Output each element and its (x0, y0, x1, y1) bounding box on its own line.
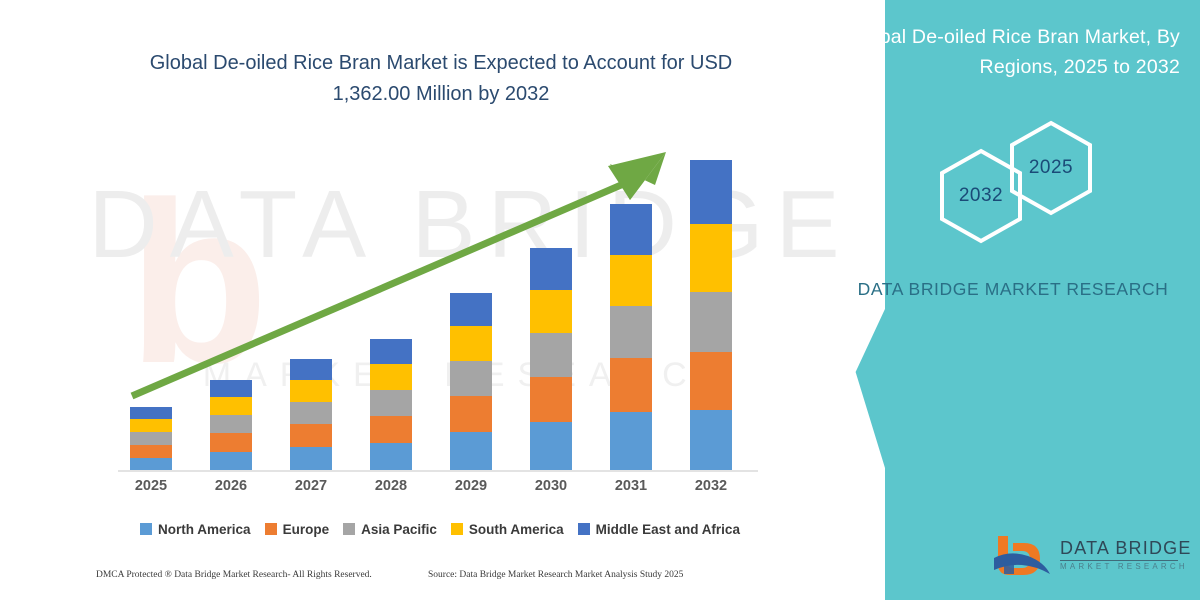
legend-swatch-icon (265, 523, 277, 535)
bar-segment-north-america-2028[interactable] (370, 443, 412, 472)
legend-label: South America (469, 522, 564, 537)
legend-item-north-america[interactable]: North America (140, 522, 251, 537)
bar-segment-asia-pacific-2030[interactable] (530, 333, 572, 377)
bar-segment-europe-2029[interactable] (450, 396, 492, 432)
bar-segment-middle-east-and-africa-2030[interactable] (530, 248, 572, 290)
bar-2026[interactable] (210, 380, 252, 472)
legend-swatch-icon (451, 523, 463, 535)
dbmr-logo-mark-icon (992, 534, 1054, 580)
infographic-canvas: b DATA BRIDGE MARKET RESEARCH Global De-… (0, 0, 1200, 600)
bar-2031[interactable] (610, 204, 652, 472)
legend-swatch-icon (140, 523, 152, 535)
legend-item-middle-east-and-africa[interactable]: Middle East and Africa (578, 522, 740, 537)
bar-segment-asia-pacific-2026[interactable] (210, 415, 252, 433)
bar-2030[interactable] (530, 248, 572, 472)
bar-segment-middle-east-and-africa-2032[interactable] (690, 160, 732, 224)
panel-brand-text: DATA BRIDGE MARKET RESEARCH (848, 275, 1178, 303)
bar-segment-south-america-2030[interactable] (530, 290, 572, 333)
footer-copyright: DMCA Protected ® Data Bridge Market Rese… (96, 570, 372, 580)
bar-segment-europe-2027[interactable] (290, 424, 332, 447)
bar-segment-europe-2030[interactable] (530, 377, 572, 422)
legend-label: North America (158, 522, 251, 537)
bar-segment-asia-pacific-2029[interactable] (450, 361, 492, 396)
bar-segment-asia-pacific-2028[interactable] (370, 390, 412, 416)
bar-segment-middle-east-and-africa-2031[interactable] (610, 204, 652, 255)
bar-segment-asia-pacific-2025[interactable] (130, 432, 172, 445)
dbmr-logo: DATA BRIDGE MARKET RESEARCH (992, 532, 1182, 582)
bar-segment-south-america-2029[interactable] (450, 326, 492, 361)
panel-title: Global De-oiled Rice Bran Market, By Reg… (825, 22, 1180, 82)
x-axis-label-2030: 2030 (516, 478, 586, 494)
bar-segment-europe-2028[interactable] (370, 416, 412, 443)
bar-segment-middle-east-and-africa-2028[interactable] (370, 339, 412, 364)
legend-swatch-icon (343, 523, 355, 535)
legend-swatch-icon (578, 523, 590, 535)
bar-segment-south-america-2031[interactable] (610, 255, 652, 306)
x-axis-label-2027: 2027 (276, 478, 346, 494)
dbmr-logo-subtitle: MARKET RESEARCH (1060, 562, 1188, 571)
bar-segment-north-america-2032[interactable] (690, 410, 732, 472)
bar-segment-south-america-2028[interactable] (370, 364, 412, 390)
x-axis-labels: 20252026202720282029203020312032 (110, 478, 770, 502)
stacked-bar-chart (110, 120, 770, 472)
bar-segment-south-america-2032[interactable] (690, 224, 732, 292)
bar-segment-north-america-2030[interactable] (530, 422, 572, 472)
bar-segment-europe-2032[interactable] (690, 352, 732, 410)
bar-segment-south-america-2025[interactable] (130, 419, 172, 432)
x-axis-label-2032: 2032 (676, 478, 746, 494)
bar-segment-south-america-2026[interactable] (210, 397, 252, 415)
legend-item-south-america[interactable]: South America (451, 522, 564, 537)
bar-2027[interactable] (290, 359, 332, 472)
bar-segment-europe-2025[interactable] (130, 445, 172, 458)
legend-label: Middle East and Africa (596, 522, 740, 537)
bar-segment-north-america-2031[interactable] (610, 412, 652, 472)
hexagon-label-2025: 2025 (1008, 157, 1094, 179)
x-axis-label-2031: 2031 (596, 478, 666, 494)
legend-label: Europe (283, 522, 330, 537)
x-axis-label-2025: 2025 (116, 478, 186, 494)
legend-label: Asia Pacific (361, 522, 437, 537)
dbmr-logo-name: DATA BRIDGE (1060, 538, 1192, 559)
legend-item-asia-pacific[interactable]: Asia Pacific (343, 522, 437, 537)
bar-segment-asia-pacific-2032[interactable] (690, 292, 732, 352)
dbmr-logo-rule (1060, 560, 1178, 561)
bar-segment-europe-2026[interactable] (210, 433, 252, 452)
bar-segment-middle-east-and-africa-2026[interactable] (210, 380, 252, 397)
hexagon-badge-2025: 2025 (1008, 120, 1094, 216)
bar-segment-middle-east-and-africa-2029[interactable] (450, 293, 492, 326)
bar-2032[interactable] (690, 160, 732, 472)
bar-2028[interactable] (370, 339, 412, 472)
bar-segment-middle-east-and-africa-2027[interactable] (290, 359, 332, 380)
footer-source: Source: Data Bridge Market Research Mark… (428, 570, 683, 580)
bar-segment-asia-pacific-2027[interactable] (290, 402, 332, 424)
x-axis-label-2026: 2026 (196, 478, 266, 494)
bar-2029[interactable] (450, 293, 492, 472)
legend-item-europe[interactable]: Europe (265, 522, 330, 537)
page-title: Global De-oiled Rice Bran Market is Expe… (118, 48, 764, 110)
bar-segment-asia-pacific-2031[interactable] (610, 306, 652, 358)
bar-segment-middle-east-and-africa-2025[interactable] (130, 407, 172, 419)
bar-segment-south-america-2027[interactable] (290, 380, 332, 402)
x-axis-line (118, 470, 758, 472)
bar-segment-north-america-2026[interactable] (210, 452, 252, 472)
x-axis-label-2029: 2029 (436, 478, 506, 494)
chart-legend: North AmericaEuropeAsia PacificSouth Ame… (110, 518, 770, 540)
x-axis-label-2028: 2028 (356, 478, 426, 494)
bar-2025[interactable] (130, 407, 172, 472)
bar-segment-north-america-2029[interactable] (450, 432, 492, 472)
bar-segment-europe-2031[interactable] (610, 358, 652, 412)
bar-segment-north-america-2027[interactable] (290, 447, 332, 472)
